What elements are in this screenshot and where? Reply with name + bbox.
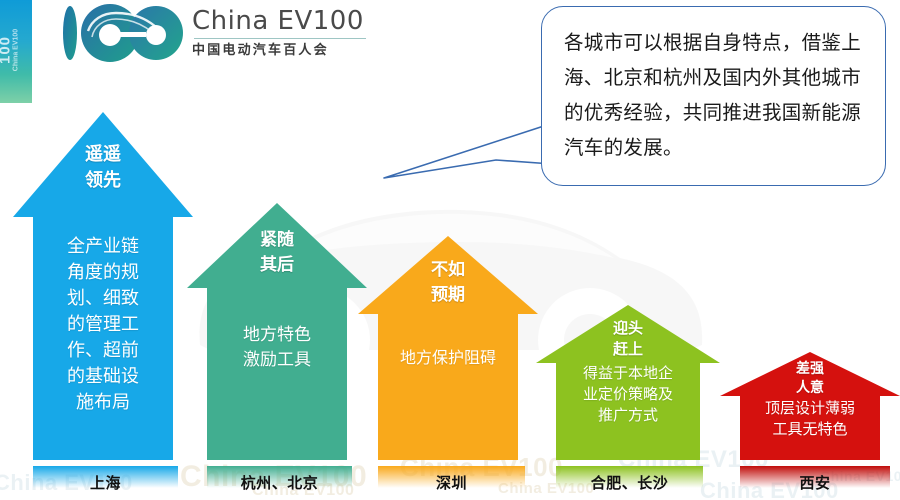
- callout-text: 各城市可以根据自身特点，借鉴上海、北京和杭州及国内外其他城市的优秀经验，共同推进…: [564, 25, 867, 165]
- city-label-shanghai: 上海: [33, 472, 178, 493]
- logo-divider: [194, 38, 366, 39]
- arrow-body-hangzhou-beijing: 地方特色 激励工具: [187, 323, 367, 373]
- side-watermark-big: 100: [0, 0, 11, 102]
- logo: China EV100 中国电动汽车百人会: [58, 2, 368, 66]
- arrow-title-hefei-changsha: 迎头 赶上: [536, 318, 720, 360]
- arrow-title-shenzhen: 不如 预期: [358, 258, 538, 308]
- arrow-hefei-changsha[interactable]: 迎头 赶上得益于本地企 业定价策略及 推广方式: [536, 305, 720, 460]
- logo-chinese-text: 中国电动汽车百人会: [192, 42, 372, 58]
- city-label-xian: 西安: [740, 472, 890, 493]
- side-watermark-bar: 100 China EV100: [0, 0, 32, 103]
- side-watermark-label: 100 China EV100: [0, 0, 32, 102]
- arrow-title-hangzhou-beijing: 紧随 其后: [187, 228, 367, 278]
- side-watermark-small: China EV100: [11, 0, 22, 102]
- arrow-shenzhen[interactable]: 不如 预期地方保护阻碍: [358, 236, 538, 460]
- arrow-body-hefei-changsha: 得益于本地企 业定价策略及 推广方式: [536, 363, 720, 426]
- arrow-body-xian: 顶层设计薄弱 工具无特色: [720, 398, 900, 440]
- arrow-body-shenzhen: 地方保护阻碍: [358, 346, 538, 370]
- arrow-title-shanghai: 遥遥 领先: [13, 142, 193, 194]
- china-ev100-logo-icon: [58, 4, 184, 62]
- city-label-hefei-changsha: 合肥、长沙: [556, 472, 703, 493]
- arrow-hangzhou-beijing[interactable]: 紧随 其后地方特色 激励工具: [187, 203, 367, 460]
- callout-tail-icon: [378, 120, 553, 190]
- logo-english-text: China EV100: [192, 6, 372, 36]
- logo-text-block: China EV100 中国电动汽车百人会: [192, 6, 372, 58]
- arrow-body-shanghai: 全产业链 角度的规 划、细致 的管理工 作、超前 的基础设 施布局: [13, 234, 193, 416]
- slide-canvas: China EV100 China EV100 China EV100 Chin…: [0, 0, 900, 500]
- callout-box: 各城市可以根据自身特点，借鉴上海、北京和杭州及国内外其他城市的优秀经验，共同推进…: [541, 6, 886, 186]
- arrow-title-xian: 差强 人意: [720, 360, 900, 398]
- city-label-hangzhou-beijing: 杭州、北京: [207, 472, 352, 493]
- arrow-shanghai[interactable]: 遥遥 领先全产业链 角度的规 划、细致 的管理工 作、超前 的基础设 施布局: [13, 112, 193, 460]
- arrow-xian[interactable]: 差强 人意顶层设计薄弱 工具无特色: [720, 352, 900, 460]
- city-label-shenzhen: 深圳: [378, 472, 525, 493]
